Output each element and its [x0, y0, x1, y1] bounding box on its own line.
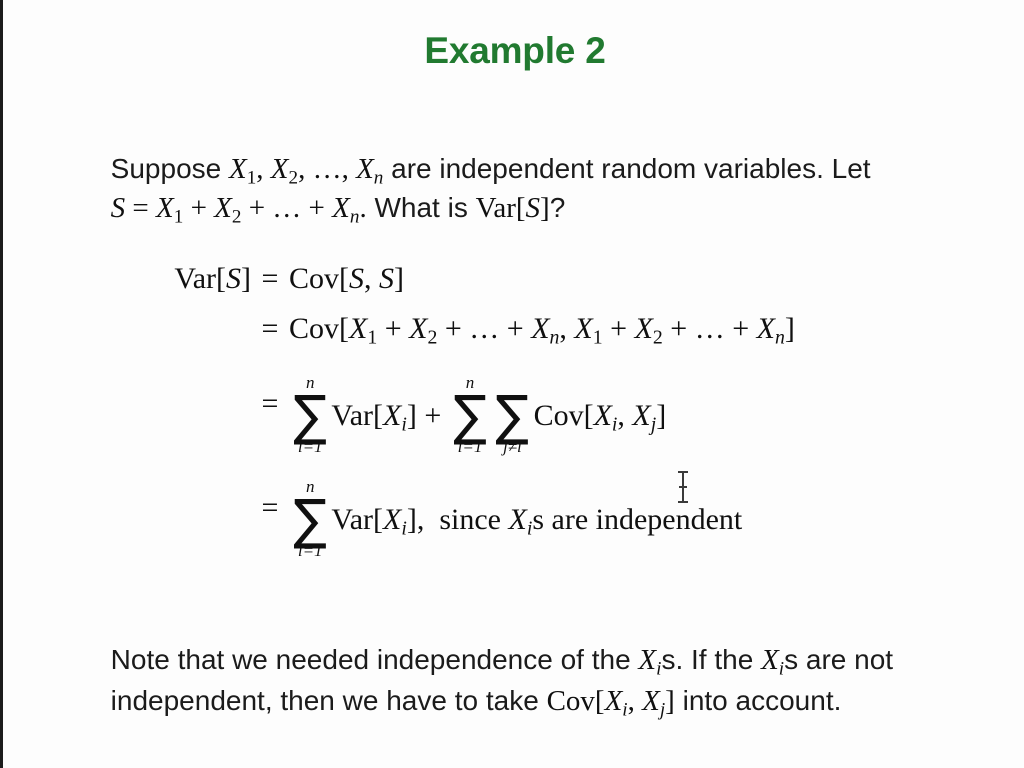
- note-line-1-part-b: s. If the: [661, 644, 761, 675]
- are-independent-label: are independent: [552, 503, 743, 536]
- intro-line-2-var-term: Var[S]: [476, 192, 550, 224]
- intro-line-1-prefix: Suppose: [111, 153, 229, 184]
- note-line-1-part-a: Note that we needed independence of the: [111, 644, 639, 675]
- derivation-row-4-equals: =: [251, 491, 289, 525]
- derivation-row-2: = Cov[X1 + X2 + … + Xn, X1 + X2 + … + Xn…: [143, 312, 795, 364]
- derivation-row-2-rhs: Cov[X1 + X2 + … + Xn, X1 + X2 + … + Xn]: [289, 312, 795, 346]
- note-line-2-part-a: independent, then we have to take: [111, 685, 547, 716]
- sigma-icon: ∑: [293, 498, 326, 542]
- derivation-row-4-rhs: n∑i=1Var[Xi], since Xis are independent: [289, 468, 742, 552]
- derivation-row-1: Var[S] = Cov[S, S]: [143, 262, 795, 312]
- intro-paragraph: Suppose X1, X2, …, Xn are independent ra…: [84, 110, 964, 188]
- note-line-1-var-2: Xi: [761, 644, 784, 676]
- derivation-row-3-term-2: Cov[Xi, Xj]: [534, 399, 667, 433]
- note-paragraph: Note that we needed independence of the …: [84, 598, 974, 680]
- derivation-row-3: = n∑i=1Var[Xi] + n∑i=1n∑j≠iCov[Xi, Xj]: [143, 364, 795, 468]
- slide-canvas: Example 2 Suppose X1, X2, …, Xn are inde…: [0, 0, 1024, 768]
- derivation-row-2-equals: =: [251, 312, 289, 346]
- note-line-1: Note that we needed independence of the …: [84, 598, 974, 639]
- derivation-row-1-rhs: Cov[S, S]: [289, 262, 404, 296]
- intro-line-1-suffix: are independent random variables. Let: [383, 153, 870, 184]
- derivation-row-1-equals: =: [251, 262, 289, 296]
- sigma-icon: ∑: [293, 394, 326, 438]
- intro-line-2-question-mark: ?: [550, 192, 566, 223]
- summation-operator-4: n∑i=1: [292, 478, 328, 562]
- intro-line-1-variables: X1, X2, …, Xn: [229, 153, 383, 185]
- note-line-2-part-b: into account.: [675, 685, 842, 716]
- sigma-icon: ∑: [496, 394, 529, 438]
- intro-line-2-equation: S = X1 + X2 + … + Xn.: [111, 192, 367, 224]
- since-label: since: [439, 503, 501, 536]
- note-line-1-part-c: s are not: [784, 644, 893, 675]
- page-title: Example 2: [3, 30, 1024, 72]
- derivation-row-4-term: Var[Xi], since Xis are independent: [331, 503, 742, 537]
- summation-operator-1: n∑i=1: [292, 374, 328, 458]
- derivation-row-3-equals: =: [251, 387, 289, 421]
- summation-operator-2: n∑i=1: [452, 374, 488, 458]
- derivation-row-3-term-1: Var[Xi] +: [331, 399, 448, 433]
- note-line-1-var-1: Xi: [638, 644, 661, 676]
- sigma-icon: ∑: [453, 394, 486, 438]
- intro-line-1: Suppose X1, X2, …, Xn are independent ra…: [84, 110, 964, 149]
- derivation-block: Var[S] = Cov[S, S] = Cov[X1 + X2 + … + X…: [143, 262, 795, 572]
- derivation-row-3-rhs: n∑i=1Var[Xi] + n∑i=1n∑j≠iCov[Xi, Xj]: [289, 364, 666, 448]
- intro-line-2-mid: What is: [367, 192, 476, 223]
- derivation-row-4: = n∑i=1Var[Xi], since Xis are independen…: [143, 468, 795, 572]
- derivation-row-1-lhs: Var[S]: [143, 262, 251, 296]
- summation-operator-3: n∑j≠i: [494, 374, 530, 458]
- note-line-2-cov-term: Cov[Xi, Xj]: [547, 685, 675, 717]
